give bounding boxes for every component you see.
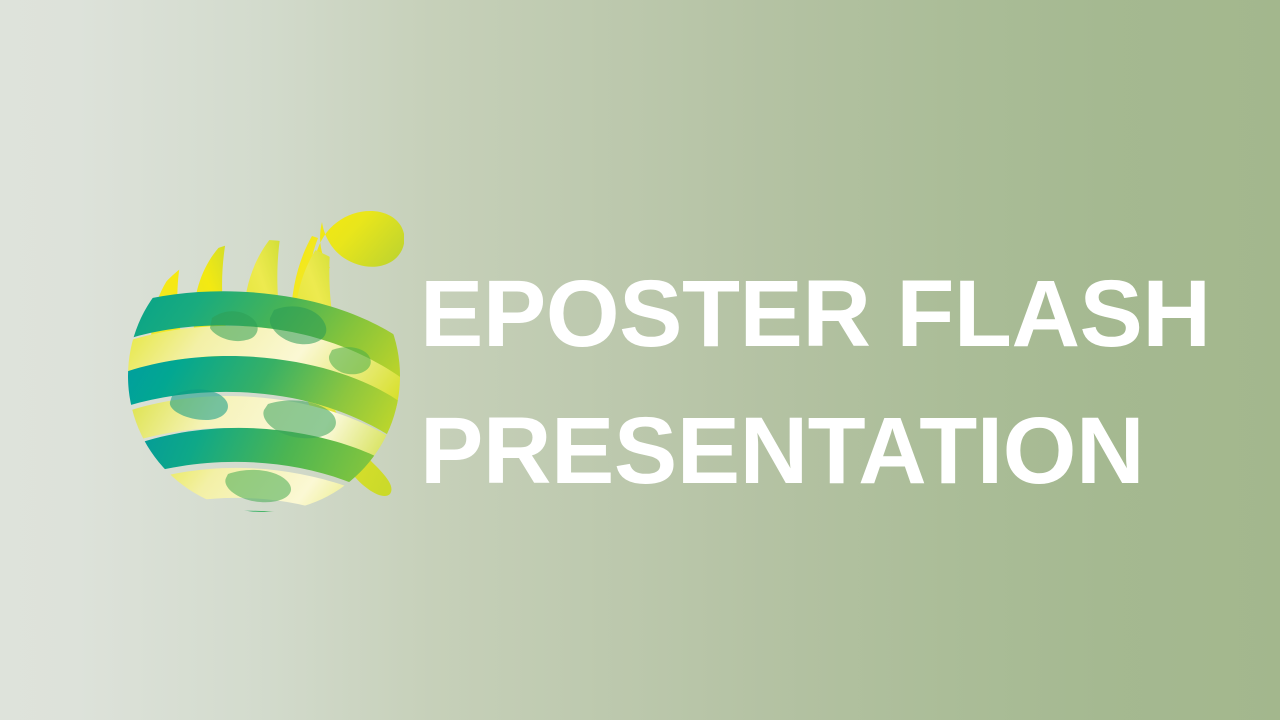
title-slide: EPOSTER FLASH PRESENTATION <box>0 0 1280 720</box>
globe-ribbon-logo-svg <box>118 198 404 524</box>
page-title-line-2: PRESENTATION <box>420 383 1220 520</box>
globe-ribbon-logo <box>118 198 404 524</box>
page-title-line-1: EPOSTER FLASH <box>420 246 1220 383</box>
slide-title: EPOSTER FLASH PRESENTATION <box>420 246 1220 520</box>
